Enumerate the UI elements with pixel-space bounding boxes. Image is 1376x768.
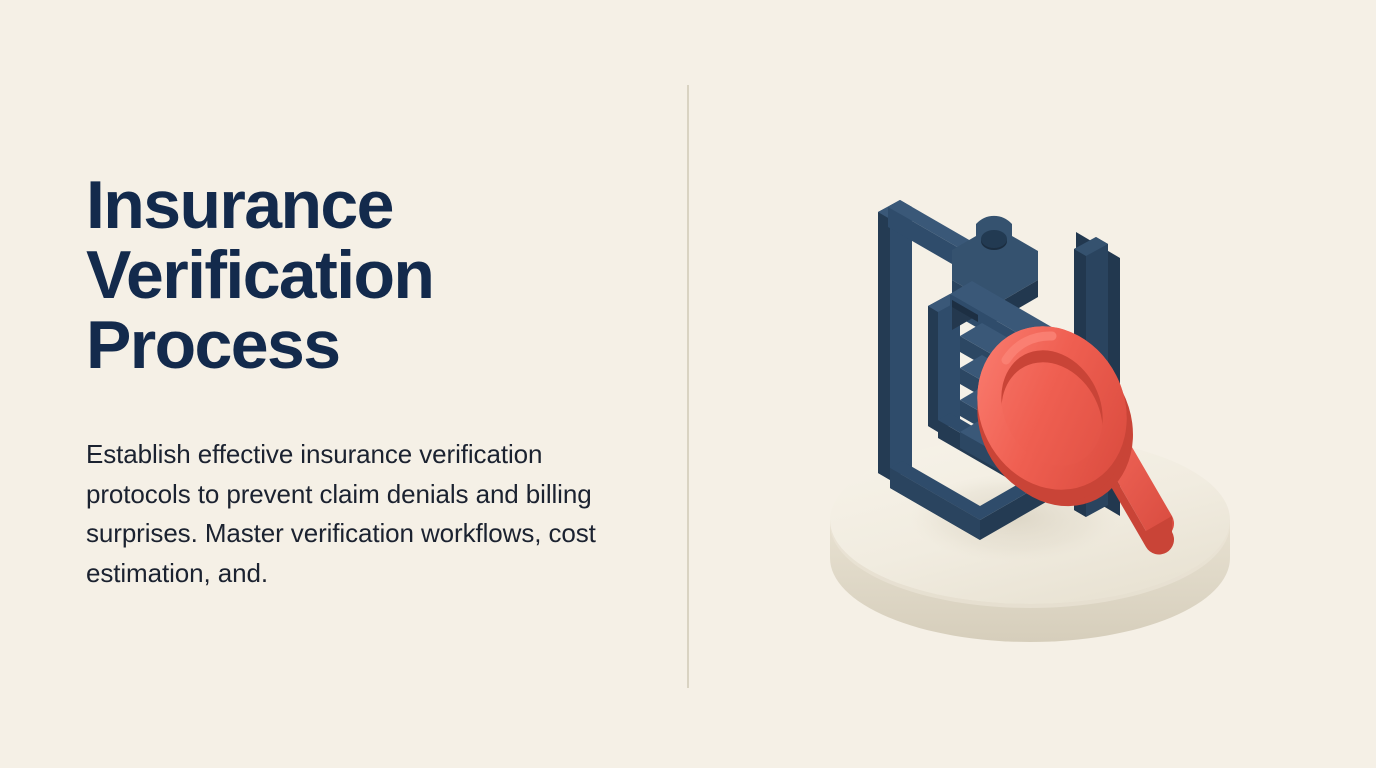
page-title: Insurance Verification Process	[86, 170, 646, 380]
page-subtitle: Establish effective insurance verificati…	[86, 435, 631, 593]
illustration-container	[800, 120, 1300, 680]
slide-root: Insurance Verification Process Establish…	[0, 0, 1376, 768]
text-column: Insurance Verification Process Establish…	[86, 170, 646, 593]
vertical-divider	[687, 85, 689, 688]
insurance-verification-3d-icon	[800, 120, 1300, 680]
